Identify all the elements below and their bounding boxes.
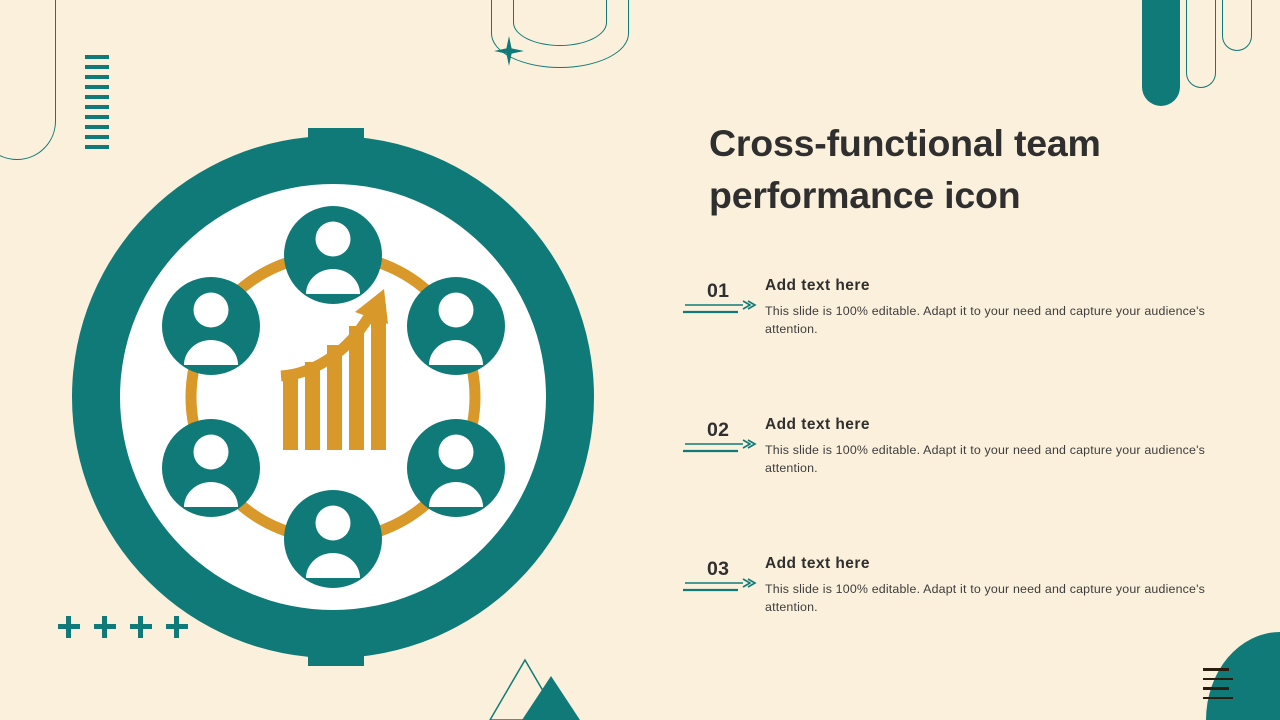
cross-functional-team-performance-icon bbox=[72, 128, 594, 666]
person-avatar bbox=[162, 419, 260, 517]
outlined-pill-top-right-2 bbox=[1222, 0, 1252, 51]
ring-notch-top bbox=[308, 128, 360, 190]
outlined-pill-top-right-1 bbox=[1186, 0, 1216, 88]
bar-1 bbox=[283, 374, 298, 450]
item-description: This slide is 100% editable. Adapt it to… bbox=[765, 581, 1215, 616]
solid-pill-top-right bbox=[1142, 0, 1180, 106]
item-description: This slide is 100% editable. Adapt it to… bbox=[765, 442, 1215, 477]
person-avatar bbox=[407, 419, 505, 517]
arrow-right-icon bbox=[683, 439, 757, 457]
person-avatar bbox=[284, 206, 382, 304]
item-heading: Add text here bbox=[765, 416, 1215, 434]
person-avatar bbox=[284, 490, 382, 588]
outlined-pill-top-left bbox=[0, 0, 56, 160]
sparkle-icon bbox=[494, 36, 524, 66]
ring-notch-bottom bbox=[308, 606, 360, 666]
item-heading: Add text here bbox=[765, 555, 1215, 573]
page-title: Cross-functional team performance icon bbox=[709, 118, 1209, 222]
bar-5 bbox=[371, 304, 386, 450]
triangle-solid-bottom-center bbox=[522, 676, 580, 720]
item-description: This slide is 100% editable. Adapt it to… bbox=[765, 303, 1215, 338]
list-item[interactable]: 02 Add text here This slide is 100% edit… bbox=[683, 411, 1213, 550]
item-heading: Add text here bbox=[765, 277, 1215, 295]
text-items-list: 01 Add text here This slide is 100% edit… bbox=[683, 272, 1213, 689]
person-avatar bbox=[407, 277, 505, 375]
list-item[interactable]: 03 Add text here This slide is 100% edit… bbox=[683, 550, 1213, 689]
person-avatar bbox=[162, 277, 260, 375]
list-item[interactable]: 01 Add text here This slide is 100% edit… bbox=[683, 272, 1213, 411]
triangles-bottom-center bbox=[488, 658, 598, 720]
semicircle-outline-inner-top bbox=[513, 0, 607, 46]
arrow-right-icon bbox=[683, 300, 757, 318]
arrow-right-icon bbox=[683, 578, 757, 596]
